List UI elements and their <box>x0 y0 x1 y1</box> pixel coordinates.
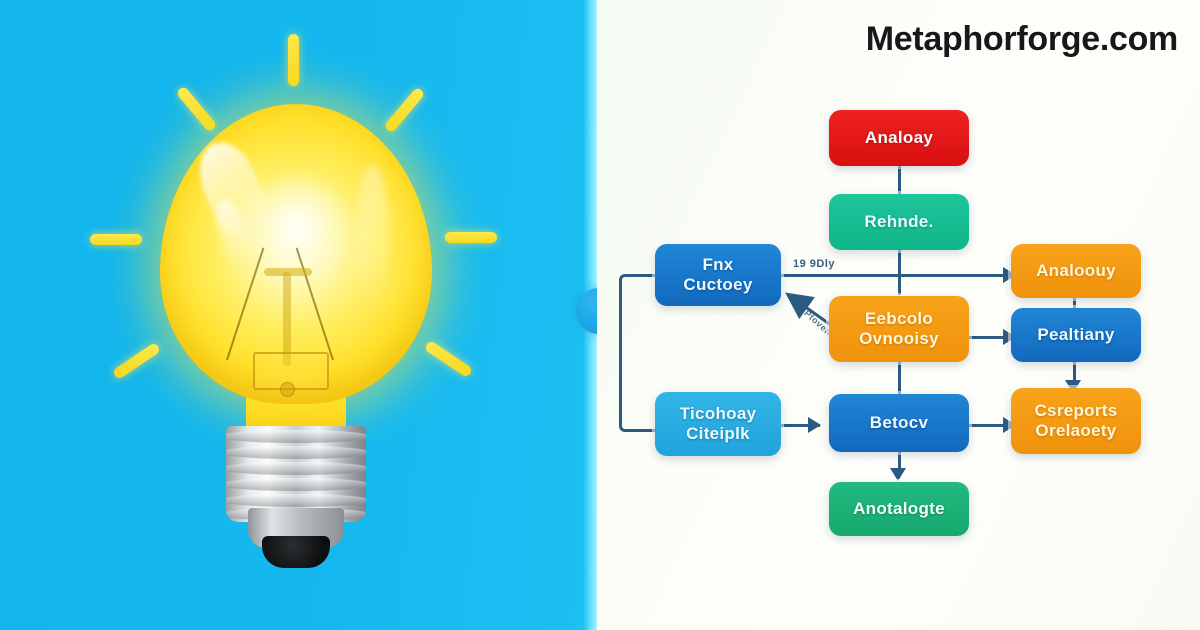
bulb-base-tip <box>262 536 330 568</box>
node-label: Analoay <box>865 128 933 148</box>
lightbulb-panel <box>0 0 597 630</box>
arrowhead-to-n8 <box>808 417 821 433</box>
node-ticohoay-citeiplk[interactable]: Ticohoay Citeiplk <box>655 392 781 456</box>
node-label-line2: Ovnooisy <box>859 329 939 349</box>
light-ray-icon <box>288 34 299 86</box>
node-fnx-cuctoey[interactable]: Fnx Cuctoey <box>655 244 781 306</box>
connector-n4-n8 <box>898 362 901 395</box>
node-pealtiany[interactable]: Pealtiany <box>1011 308 1141 362</box>
edge-label-row3: 19 9Dly <box>793 258 835 270</box>
node-rehnde[interactable]: Rehnde. <box>829 194 969 250</box>
node-label-line1: Csreports <box>1034 401 1117 421</box>
node-label: Rehnde. <box>864 212 933 232</box>
node-label-line1: Fnx <box>702 255 733 275</box>
connector-left-bracket <box>619 274 658 432</box>
page-title: Metaphorforge.com <box>866 20 1178 59</box>
node-label: Betocv <box>870 413 929 433</box>
node-csreports-orelaoety[interactable]: Csreports Orelaoety <box>1011 388 1141 454</box>
node-label-line2: Citeiplk <box>686 424 750 444</box>
lightbulb-icon <box>160 104 432 434</box>
node-label-line2: Orelaoety <box>1035 421 1116 441</box>
filament-bar <box>264 268 312 276</box>
arrowhead-to-n10 <box>890 468 906 481</box>
bulb-highlight <box>356 164 390 314</box>
connector-n1-n2 <box>898 165 901 195</box>
light-ray-icon <box>90 234 142 245</box>
node-label-line1: Eebcolo <box>865 309 933 329</box>
node-label-line2: Cuctoey <box>683 275 752 295</box>
node-analoay[interactable]: Analoay <box>829 110 969 166</box>
node-anotalogte[interactable]: Anotalogte <box>829 482 969 536</box>
node-label: Anotalogte <box>853 499 945 519</box>
screenshot-canvas: Metaphorforge.com <box>0 0 1200 630</box>
diagram-panel: Metaphorforge.com <box>597 0 1200 630</box>
light-ray-icon <box>112 342 161 380</box>
node-label-line1: Ticohoay <box>680 404 757 424</box>
node-eebcolo-ovnooisy[interactable]: Eebcolo Ovnooisy <box>829 296 969 362</box>
node-betocv[interactable]: Betocv <box>829 394 969 452</box>
connector-n2-n4 <box>898 250 901 295</box>
filament-bead <box>280 382 295 397</box>
node-label: Analoouy <box>1036 261 1116 281</box>
node-analoouy[interactable]: Analoouy <box>1011 244 1141 298</box>
light-ray-icon <box>445 232 497 243</box>
connector-row3 <box>780 274 1010 277</box>
node-label: Pealtiany <box>1037 325 1114 345</box>
